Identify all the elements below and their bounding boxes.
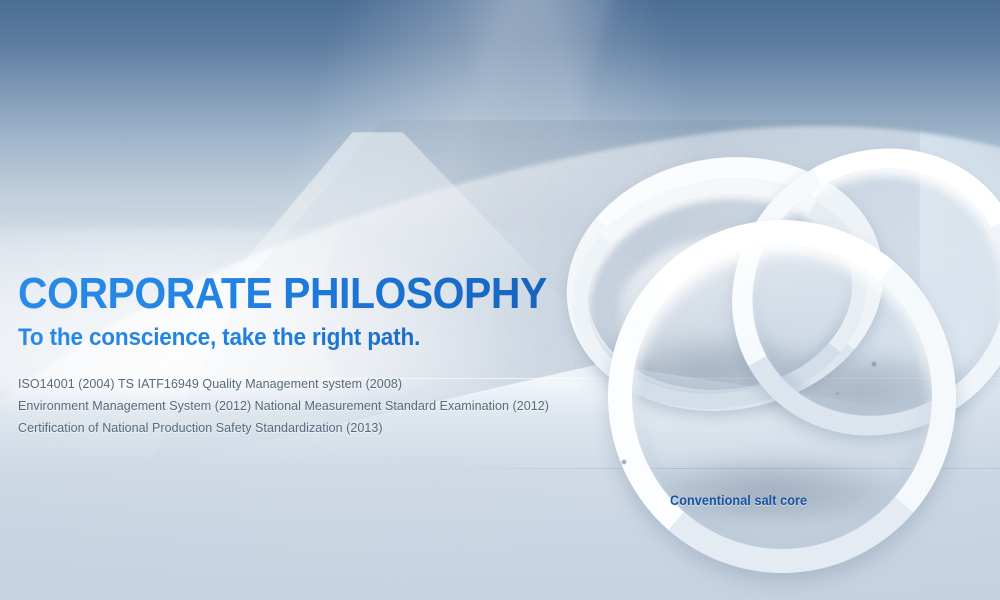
ring-pinhole-icon [872, 362, 876, 366]
certification-list: ISO14001 (2004) TS IATF16949 Quality Man… [18, 373, 638, 439]
ring-pinhole-icon [836, 392, 839, 395]
corporate-philosophy-banner: CORPORATE PHILOSOPHY To the conscience, … [0, 0, 1000, 600]
ring-pinhole-icon [622, 460, 626, 464]
product-caption: Conventional salt core [670, 492, 807, 508]
page-title: CORPORATE PHILOSOPHY [18, 272, 595, 316]
page-subtitle: To the conscience, take the right path. [18, 325, 601, 351]
certification-line: Certification of National Production Saf… [18, 417, 638, 439]
certification-line: ISO14001 (2004) TS IATF16949 Quality Man… [18, 373, 638, 395]
certification-line: Environment Management System (2012) Nat… [18, 395, 638, 417]
headline-text-block: CORPORATE PHILOSOPHY To the conscience, … [18, 272, 638, 439]
